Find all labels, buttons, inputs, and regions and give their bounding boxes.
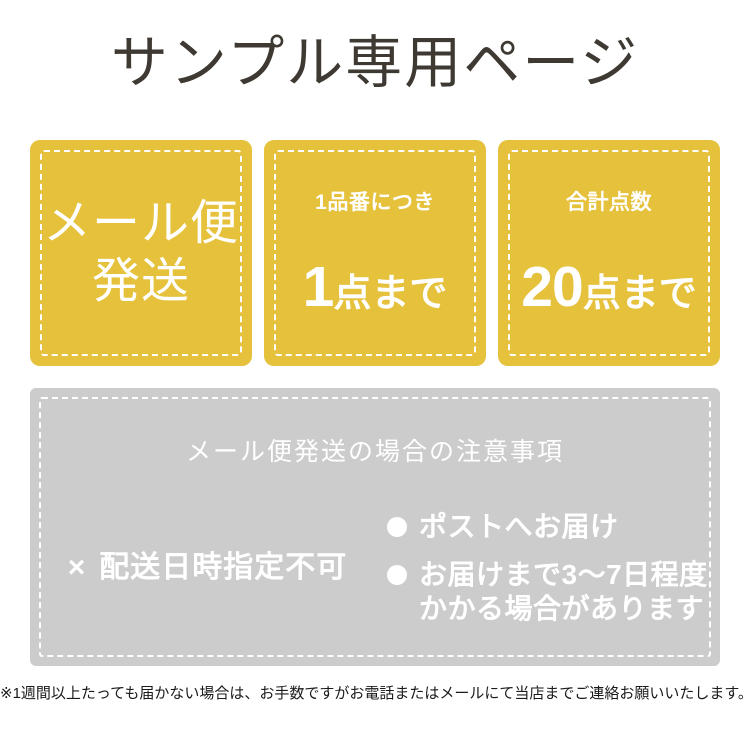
bullet-dot-icon — [387, 517, 407, 537]
badge-caption: 合計点数 — [566, 190, 652, 216]
notice-body: × 配送日時指定不可 ポストへお届け お届けまで3〜7日程度 かかる場合がありま… — [30, 498, 720, 638]
badge-value: 1 点まで — [303, 258, 448, 323]
badge-total-limit: 合計点数 20 点まで — [498, 140, 720, 366]
list-item: ポストへお届け — [387, 510, 720, 544]
notice-heading: メール便発送の場合の注意事項 — [30, 436, 720, 468]
notice-restriction: × 配送日時指定不可 — [30, 551, 385, 585]
badge-line-2: 発送 — [92, 253, 190, 311]
badge-unit: 点まで — [583, 265, 697, 323]
badge-mail-delivery: メール便 発送 — [30, 140, 252, 366]
badge-line-1: メール便 — [43, 195, 239, 253]
bullet-line-1: お届けまで3〜7日程度 — [419, 559, 708, 590]
badge-value: 20 点まで — [521, 258, 696, 323]
bullet-line-1: ポストへお届け — [419, 511, 619, 542]
footnote: ※1週間以上たっても届かない場合は、お手数ですがお電話またはメールにて当店までご… — [0, 683, 750, 705]
cross-mark-icon: × — [68, 551, 86, 585]
notice-panel: メール便発送の場合の注意事項 × 配送日時指定不可 ポストへお届け お届けまで3… — [30, 388, 720, 666]
badge-unit: 点まで — [333, 265, 447, 323]
notice-bullet-list: ポストへお届け お届けまで3〜7日程度 かかる場合があります — [385, 510, 720, 626]
bullet-text: ポストへお届け — [419, 510, 619, 544]
badge-number: 20 — [521, 258, 582, 316]
badge-content: 合計点数 20 点まで — [498, 140, 720, 366]
badge-number: 1 — [303, 258, 334, 316]
badge-caption: 1品番につき — [315, 190, 435, 216]
sample-page-banner: サンプル専用ページ メール便 発送 1品番につき 1 点まで 合計点数 — [0, 0, 750, 750]
list-item: お届けまで3〜7日程度 かかる場合があります — [387, 558, 720, 626]
bullet-line-2: かかる場合があります — [419, 592, 708, 626]
badge-per-item-limit: 1品番につき 1 点まで — [264, 140, 486, 366]
page-title: サンプル専用ページ — [0, 28, 750, 98]
bullet-dot-icon — [387, 565, 407, 585]
badge-content: メール便 発送 — [30, 140, 252, 366]
bullet-text: お届けまで3〜7日程度 かかる場合があります — [419, 558, 708, 626]
badge-content: 1品番につき 1 点まで — [264, 140, 486, 366]
notice-restriction-text: 配送日時指定不可 — [99, 551, 347, 585]
badge-row: メール便 発送 1品番につき 1 点まで 合計点数 20 点まで — [30, 140, 720, 366]
